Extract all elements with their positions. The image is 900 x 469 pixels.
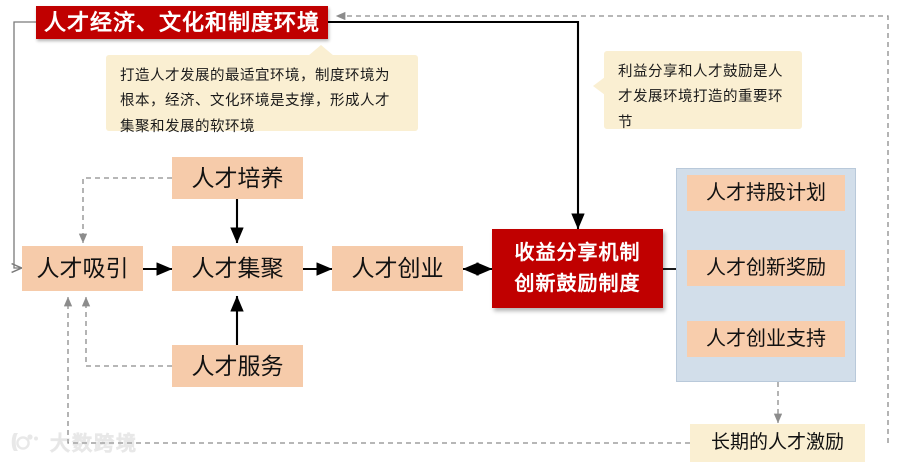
- note-benefit-sharing-text: 利益分享和人才鼓励是人才发展环境打造的重要环节: [618, 60, 788, 136]
- diagram-canvas: 人才经济、文化和制度环境 打造人才发展的最适宜环境，制度环境为根本，经济、文化环…: [0, 0, 900, 469]
- mechanism-line-1: 收益分享机制: [515, 242, 641, 265]
- node-talent-entrepreneurship[interactable]: 人才创业: [332, 246, 463, 291]
- node-talent-cultivation[interactable]: 人才培养: [172, 157, 303, 199]
- node-equity-plan-label: 人才持股计划: [706, 182, 826, 205]
- connector-cultivation-to-attraction: [83, 178, 172, 243]
- node-long-term-incentive[interactable]: 长期的人才激励: [690, 424, 865, 462]
- note-environment: 打造人才发展的最适宜环境，制度环境为根本，经济、文化环境是支撑，形成人才集聚和发…: [106, 55, 418, 131]
- connector-environment-to-attraction: [14, 22, 42, 268]
- node-talent-clustering[interactable]: 人才集聚: [172, 246, 303, 291]
- node-startup-support[interactable]: 人才创业支持: [687, 321, 845, 357]
- connector-longterm-to-attraction: [68, 297, 690, 443]
- title-banner-label: 人才经济、文化和制度环境: [44, 10, 320, 35]
- node-long-term-incentive-label: 长期的人才激励: [711, 432, 844, 454]
- connector-service-to-attraction: [86, 297, 172, 366]
- node-startup-support-label: 人才创业支持: [706, 328, 826, 351]
- node-talent-entrepreneurship-label: 人才创业: [352, 255, 444, 281]
- note-benefit-sharing: 利益分享和人才鼓励是人才发展环境打造的重要环节: [604, 51, 802, 129]
- node-talent-clustering-label: 人才集聚: [192, 255, 284, 281]
- node-benefit-sharing-mechanism[interactable]: 收益分享机制 创新鼓励制度: [492, 229, 663, 308]
- title-banner[interactable]: 人才经济、文化和制度环境: [36, 6, 328, 39]
- node-equity-plan[interactable]: 人才持股计划: [687, 175, 845, 211]
- node-talent-service[interactable]: 人才服务: [172, 345, 303, 387]
- node-innovation-award-label: 人才创新奖励: [706, 257, 826, 280]
- node-talent-service-label: 人才服务: [192, 353, 284, 379]
- mechanism-line-2: 创新鼓励制度: [515, 273, 641, 296]
- node-talent-attraction-label: 人才吸引: [37, 255, 129, 281]
- node-talent-attraction[interactable]: 人才吸引: [22, 246, 143, 291]
- note-tail-icon: [593, 77, 605, 95]
- node-talent-cultivation-label: 人才培养: [192, 165, 284, 191]
- note-tail-icon: [308, 45, 334, 56]
- note-environment-text: 打造人才发展的最适宜环境，制度环境为根本，经济、文化环境是支撑，形成人才集聚和发…: [120, 64, 404, 140]
- node-innovation-award[interactable]: 人才创新奖励: [687, 250, 845, 286]
